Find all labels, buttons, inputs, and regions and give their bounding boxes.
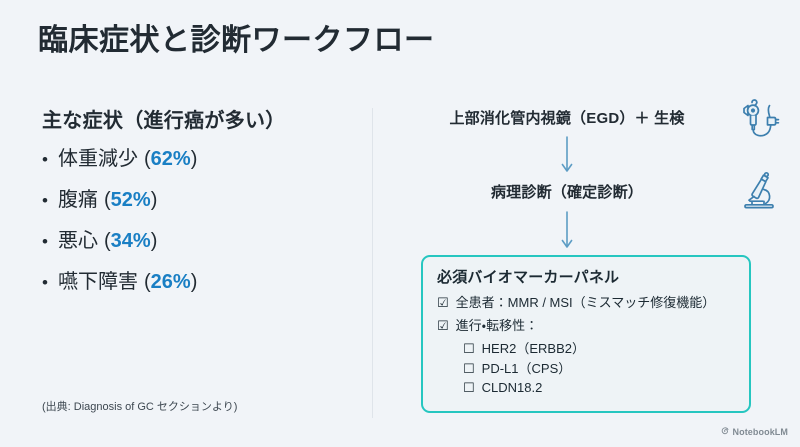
paren-open: (	[104, 231, 111, 251]
paren-open: (	[104, 190, 111, 210]
notebooklm-spiral-icon	[720, 423, 730, 441]
symptom-percent: 62%	[151, 149, 191, 169]
bullet-icon: •	[42, 192, 58, 209]
bullet-icon: •	[42, 274, 58, 291]
symptom-percent: 26%	[151, 272, 191, 292]
slide-canvas: 臨床症状と診断ワークフロー 主な症状（進行癌が多い） • 体重減少 (62%) …	[0, 0, 800, 447]
flow-step-label: 病理診断（確定診断）	[390, 181, 790, 202]
paren-close: )	[151, 190, 158, 210]
symptoms-list: • 体重減少 (62%) • 腹痛 (52%) • 悪心 (34%) • 嚥下障…	[42, 149, 352, 292]
panel-row-label: PD-L1（CPS）	[482, 360, 572, 379]
list-item: • 悪心 (34%)	[42, 231, 352, 251]
panel-title: 必須バイオマーカーパネル	[437, 266, 735, 287]
panel-row-pdl1[interactable]: ☐ PD-L1（CPS）	[437, 360, 735, 379]
bullet-icon: •	[42, 233, 58, 250]
list-item: • 嚥下障害 (26%)	[42, 272, 352, 292]
biomarker-panel: 必須バイオマーカーパネル ☑ 全患者：MMR / MSI（ミスマッチ修復機能） …	[421, 255, 751, 413]
symptom-label: 悪心	[58, 231, 98, 251]
diagnostic-workflow-column: 上部消化管内視鏡（EGD）＋ 生検	[390, 104, 790, 252]
source-note: (出典: Diagnosis of GC セクションより)	[42, 398, 237, 414]
flow-step-egd: 上部消化管内視鏡（EGD）＋ 生検	[390, 104, 790, 134]
paren-close: )	[151, 231, 158, 251]
list-item: • 腹痛 (52%)	[42, 190, 352, 210]
checkbox-checked-icon[interactable]: ☑	[437, 294, 449, 313]
panel-row-label: CLDN18.2	[482, 379, 543, 398]
panel-row-label: 全患者：MMR / MSI（ミスマッチ修復機能）	[456, 294, 716, 313]
symptom-percent: 52%	[111, 190, 151, 210]
checkbox-checked-icon[interactable]: ☑	[437, 317, 449, 336]
symptom-label: 腹痛	[58, 190, 98, 210]
down-arrow-icon	[344, 208, 790, 252]
panel-row-label: 進行・転移性：	[456, 317, 538, 336]
panel-row-her2[interactable]: ☐ HER2（ERBB2）	[437, 340, 735, 359]
down-arrow-icon	[344, 134, 790, 178]
symptom-percent: 34%	[111, 231, 151, 251]
flow-step-pathology: 病理診断（確定診断）	[390, 178, 790, 208]
paren-close: )	[191, 272, 198, 292]
paren-open: (	[144, 149, 151, 169]
checkbox-unchecked-icon[interactable]: ☐	[463, 340, 475, 359]
bullet-icon: •	[42, 151, 58, 168]
panel-row-cldn182[interactable]: ☐ CLDN18.2	[437, 379, 735, 398]
notebooklm-watermark: NotebookLM	[720, 423, 789, 441]
symptoms-heading: 主な症状（進行癌が多い）	[42, 104, 352, 133]
panel-row-label: HER2（ERBB2）	[482, 340, 585, 359]
paren-open: (	[144, 272, 151, 292]
symptom-label: 嚥下障害	[58, 272, 138, 292]
checkbox-unchecked-icon[interactable]: ☐	[463, 379, 475, 398]
notebooklm-label: NotebookLM	[733, 427, 789, 437]
checkbox-unchecked-icon[interactable]: ☐	[463, 360, 475, 379]
list-item: • 体重減少 (62%)	[42, 149, 352, 169]
paren-close: )	[191, 149, 198, 169]
page-title: 臨床症状と診断ワークフロー	[38, 22, 435, 60]
symptoms-column: 主な症状（進行癌が多い） • 体重減少 (62%) • 腹痛 (52%) • 悪…	[42, 104, 352, 313]
panel-row-advanced-metastatic[interactable]: ☑ 進行・転移性：	[437, 317, 735, 336]
flow-step-label: 上部消化管内視鏡（EGD）＋ 生検	[390, 107, 790, 128]
panel-row-all-patients[interactable]: ☑ 全患者：MMR / MSI（ミスマッチ修復機能）	[437, 294, 735, 313]
symptom-label: 体重減少	[58, 149, 138, 169]
